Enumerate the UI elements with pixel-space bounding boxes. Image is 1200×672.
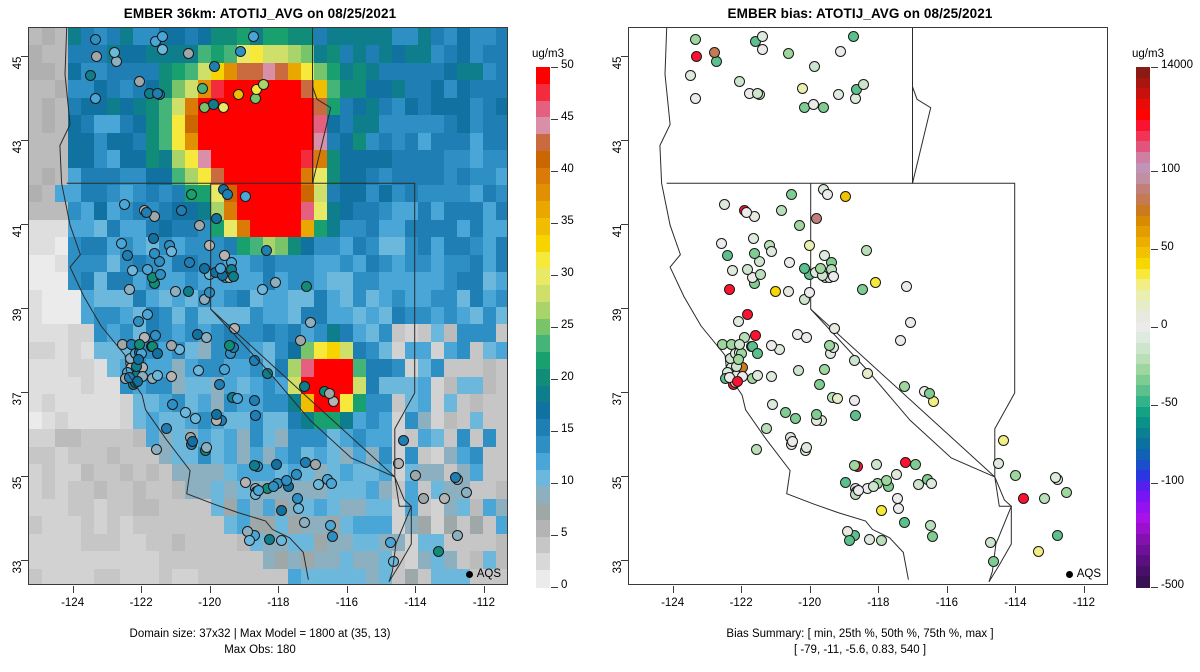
colorbar-segment	[1136, 534, 1150, 545]
colorbar-segment	[1136, 237, 1150, 248]
colorbar-segment	[1136, 354, 1150, 365]
bias-point	[786, 189, 797, 200]
colorbar-segment	[536, 201, 550, 218]
x-tick-mark	[741, 586, 742, 593]
colorbar-tick-label: 14000	[1161, 59, 1193, 71]
bias-point	[876, 535, 887, 546]
colorbar-tick	[1151, 171, 1158, 172]
y-tick-label: 41	[612, 222, 624, 240]
bias-point	[804, 240, 815, 251]
aqs-legend-left: AQS	[466, 568, 501, 580]
x-tick-label: -120	[187, 597, 233, 609]
colorbar-segment	[1136, 194, 1150, 205]
bias-point	[925, 520, 936, 531]
colorbar-segment	[1136, 460, 1150, 471]
colorbar-segment	[536, 84, 550, 101]
colorbar-segment	[536, 553, 550, 570]
x-tick-label: -112	[461, 597, 507, 609]
colorbar-segment	[536, 184, 550, 201]
bias-point	[793, 365, 804, 376]
x-tick-mark	[141, 586, 142, 593]
bias-point	[988, 556, 999, 567]
x-tick-label: -118	[855, 597, 901, 609]
bias-point	[790, 413, 801, 424]
colorbar-tick	[551, 171, 558, 172]
bias-point	[833, 89, 844, 100]
x-tick-mark	[878, 586, 879, 593]
bias-point	[840, 477, 851, 488]
x-tick-mark	[1084, 586, 1085, 593]
bias-point	[850, 410, 861, 421]
panel-bias-caption-1: Bias Summary: [ min, 25th %, 50th %, 75t…	[600, 627, 1120, 642]
colorbar-segment	[1136, 269, 1150, 280]
y-tick-label: 39	[12, 306, 24, 324]
colorbar-tick	[1151, 327, 1158, 328]
colorbar-segment	[536, 101, 550, 118]
colorbar-tick-label: 50	[561, 59, 574, 71]
aqs-legend-label: AQS	[1077, 568, 1101, 580]
bias-point	[1039, 493, 1050, 504]
bias-point	[801, 332, 812, 343]
y-tick-label: 33	[612, 558, 624, 576]
colorbar-tick	[551, 483, 558, 484]
colorbar-segment	[1136, 311, 1150, 322]
colorbar-segment	[536, 335, 550, 352]
bias-point	[901, 281, 912, 292]
bias-point	[752, 348, 763, 359]
bias-point	[824, 340, 835, 351]
bias-point	[690, 93, 701, 104]
colorbar-segment	[536, 402, 550, 419]
colorbar-segment	[1136, 407, 1150, 418]
bias-point	[766, 371, 777, 382]
colorbar-segment	[1136, 523, 1150, 534]
colorbar-tick-label: 30	[561, 267, 574, 279]
bias-point	[766, 246, 777, 257]
bias-point	[757, 31, 768, 42]
panel-bias: EMBER bias: ATOTIJ_AVG on 08/25/2021 AQS…	[600, 0, 1200, 672]
colorbar-segment	[1136, 502, 1150, 513]
bias-point	[840, 191, 851, 202]
bias-point	[722, 250, 733, 261]
bias-point	[871, 459, 882, 470]
colorbar-segment	[1136, 290, 1150, 301]
bias-point	[998, 435, 1009, 446]
colorbar-segment	[1136, 332, 1150, 343]
bias-point	[797, 83, 808, 94]
bias-point	[1061, 487, 1072, 498]
bias-points-layer	[629, 28, 1107, 584]
bias-point	[733, 354, 744, 365]
colorbar-tick-label: -500	[1161, 579, 1184, 591]
colorbar-segment	[536, 537, 550, 554]
bias-point	[780, 407, 791, 418]
x-tick-mark	[484, 586, 485, 593]
x-tick-label: -114	[992, 597, 1038, 609]
colorbar-segment	[1136, 300, 1150, 311]
bias-point	[808, 99, 819, 110]
colorbar-tick-label: 10	[561, 475, 574, 487]
colorbar-segment	[1136, 375, 1150, 386]
panel-model-caption-1: Domain size: 37x32 | Max Model = 1800 at…	[0, 627, 520, 642]
colorbar-segment	[1136, 152, 1150, 163]
bias-point	[783, 48, 794, 59]
bias-point	[829, 323, 840, 334]
colorbar-tick	[551, 119, 558, 120]
colorbar-segment	[1136, 205, 1150, 216]
x-tick-label: -112	[1061, 597, 1107, 609]
colorbar-title: ug/m3	[1132, 48, 1164, 60]
bias-point	[900, 457, 911, 468]
colorbar-tick-label: 25	[561, 319, 574, 331]
bias-point	[868, 481, 879, 492]
colorbar-tick-label: 40	[561, 163, 574, 175]
bias-point	[1018, 493, 1029, 504]
bias-point	[750, 330, 761, 341]
colorbar-segment	[536, 319, 550, 336]
bias-point	[761, 423, 772, 434]
panel-model-plot-area: AQS	[28, 27, 508, 585]
bias-point	[751, 444, 762, 455]
colorbar-segment	[536, 235, 550, 252]
bias-point	[748, 233, 759, 244]
colorbar-tick-label: 35	[561, 215, 574, 227]
bias-point	[733, 316, 744, 327]
colorbar-segment	[1136, 247, 1150, 258]
bias-point	[801, 442, 812, 453]
colorbar-segment	[536, 117, 550, 134]
colorbar-tick-label: 0	[561, 579, 567, 591]
colorbar-segment	[1136, 99, 1150, 110]
colorbar-gradient	[1136, 67, 1150, 587]
colorbar-segment	[1136, 78, 1150, 89]
panel-model-caption-2: Max Obs: 180	[0, 643, 520, 658]
y-tick-label: 45	[12, 54, 24, 72]
bias-point	[811, 213, 822, 224]
colorbar-segment	[1136, 141, 1150, 152]
colorbar-segment	[536, 520, 550, 537]
colorbar-segment	[1136, 576, 1150, 587]
bias-point	[691, 51, 702, 62]
x-tick-mark	[278, 586, 279, 593]
bias-point	[993, 458, 1004, 469]
bias-point	[905, 317, 916, 328]
colorbar-segment	[536, 352, 550, 369]
y-tick-label: 35	[12, 474, 24, 492]
colorbar-segment	[536, 67, 550, 84]
bias-point	[709, 47, 720, 58]
figure-root: EMBER 36km: ATOTIJ_AVG on 08/25/2021 AQS…	[0, 0, 1200, 672]
colorbar-segment	[1136, 481, 1150, 492]
colorbar-segment	[536, 453, 550, 470]
colorbar-segment	[1136, 385, 1150, 396]
bias-point	[1033, 546, 1044, 557]
bias-point	[924, 388, 935, 399]
y-tick-label: 33	[12, 558, 24, 576]
colorbar-segment	[1136, 491, 1150, 502]
bias-point	[858, 79, 869, 90]
colorbar-segment	[1136, 109, 1150, 120]
y-tick-label: 45	[612, 54, 624, 72]
x-tick-mark	[347, 586, 348, 593]
colorbar-segment	[536, 570, 550, 587]
x-tick-label: -122	[118, 597, 164, 609]
bias-point	[870, 277, 881, 288]
colorbar-tick-label: -100	[1161, 475, 1184, 487]
colorbar-tick	[551, 67, 558, 68]
colorbar-segment	[1136, 258, 1150, 269]
bias-point	[819, 364, 830, 375]
bias-point	[828, 271, 839, 282]
bias-point	[853, 485, 864, 496]
model-boundary-lines	[29, 28, 507, 584]
x-tick-mark	[73, 586, 74, 593]
colorbar-tick-label: 15	[561, 423, 574, 435]
bias-point	[809, 61, 820, 72]
colorbar-segment	[1136, 417, 1150, 428]
bias-point	[690, 34, 701, 45]
colorbar-segment	[536, 168, 550, 185]
colorbar-segment	[1136, 322, 1150, 333]
panel-bias-plot-area: AQS	[628, 27, 1108, 585]
colorbar-segment	[1136, 555, 1150, 566]
colorbar-segment	[1136, 88, 1150, 99]
colorbar-tick-label: 50	[1161, 241, 1174, 253]
bias-point	[899, 517, 910, 528]
bias-point	[752, 370, 763, 381]
bias-point	[822, 189, 833, 200]
x-tick-label: -120	[787, 597, 833, 609]
bias-point	[732, 376, 743, 387]
bias-point	[766, 340, 777, 351]
colorbar-tick	[551, 535, 558, 536]
colorbar-tick	[551, 431, 558, 432]
bias-point	[849, 395, 860, 406]
colorbar-tick-label: 100	[1161, 163, 1180, 175]
colorbar-segment	[1136, 428, 1150, 439]
colorbar-segment	[1136, 513, 1150, 524]
colorbar-tick	[1151, 587, 1158, 588]
x-tick-label: -124	[650, 597, 696, 609]
bias-point	[734, 339, 745, 350]
colorbar-segment	[536, 151, 550, 168]
bias-point	[926, 478, 937, 489]
colorbar-segment	[536, 503, 550, 520]
bias-point	[927, 531, 938, 542]
colorbar-tick-label: 45	[561, 111, 574, 123]
x-tick-mark	[415, 586, 416, 593]
bias-point	[849, 355, 860, 366]
bias-point	[848, 31, 859, 42]
colorbar-segment	[1136, 396, 1150, 407]
colorbar-tick-label: -50	[1161, 397, 1178, 409]
colorbar-segment	[536, 436, 550, 453]
colorbar-segment	[1136, 343, 1150, 354]
colorbar-tick	[551, 379, 558, 380]
bias-point	[985, 537, 996, 548]
bias-point	[755, 269, 766, 280]
x-tick-mark	[947, 586, 948, 593]
colorbar-segment	[536, 285, 550, 302]
panel-model-title: EMBER 36km: ATOTIJ_AVG on 08/25/2021	[0, 6, 520, 21]
colorbar-segment	[536, 369, 550, 386]
bias-point	[794, 220, 805, 231]
bias-point	[832, 393, 843, 404]
bias-point	[804, 287, 815, 298]
bias-point	[881, 475, 892, 486]
panel-model: EMBER 36km: ATOTIJ_AVG on 08/25/2021 AQS…	[0, 0, 600, 672]
colorbar-segment	[1136, 67, 1150, 78]
colorbar-segment	[1136, 566, 1150, 577]
colorbar-segment	[1136, 163, 1150, 174]
colorbar-tick-label: 5	[561, 527, 567, 539]
aqs-legend-right: AQS	[1066, 568, 1101, 580]
x-tick-label: -114	[392, 597, 438, 609]
panel-bias-title: EMBER bias: ATOTIJ_AVG on 08/25/2021	[600, 6, 1120, 21]
bias-point	[727, 265, 738, 276]
colorbar-segment	[536, 386, 550, 403]
bias-point	[891, 469, 902, 480]
y-tick-label: 43	[612, 138, 624, 156]
bias-point	[818, 102, 829, 113]
aqs-dot-icon	[1066, 571, 1073, 578]
y-tick-label: 39	[612, 306, 624, 324]
colorbar-segment	[536, 134, 550, 151]
bias-point	[1050, 472, 1061, 483]
bias-point	[815, 263, 826, 274]
colorbar-tick	[1151, 405, 1158, 406]
colorbar-segment	[536, 419, 550, 436]
x-tick-label: -124	[50, 597, 96, 609]
bias-point	[719, 199, 730, 210]
x-tick-mark	[673, 586, 674, 593]
colorbar-segment	[1136, 226, 1150, 237]
colorbar-tick-label: 0	[1161, 319, 1167, 331]
x-tick-label: -122	[718, 597, 764, 609]
colorbar-tick-label: 20	[561, 371, 574, 383]
colorbar-segment	[1136, 545, 1150, 556]
colorbar-segment	[536, 302, 550, 319]
colorbar-tick	[551, 327, 558, 328]
colorbar-title: ug/m3	[532, 48, 564, 60]
bias-point	[910, 459, 921, 470]
bias-point	[742, 264, 753, 275]
bias-point	[857, 284, 868, 295]
bias-point	[864, 534, 875, 545]
bias-point	[1010, 470, 1021, 481]
bias-point	[711, 56, 722, 67]
y-tick-label: 41	[12, 222, 24, 240]
x-tick-label: -116	[924, 597, 970, 609]
bias-point	[861, 245, 872, 256]
colorbar-segment	[1136, 120, 1150, 131]
colorbar-segment	[536, 252, 550, 269]
x-tick-mark	[810, 586, 811, 593]
colorbar-segment	[536, 268, 550, 285]
y-tick-label: 37	[12, 390, 24, 408]
colorbar-segment	[1136, 173, 1150, 184]
y-tick-label: 37	[612, 390, 624, 408]
bias-point	[742, 309, 753, 320]
bias-point	[799, 263, 810, 274]
bias-point	[892, 493, 903, 504]
bias-point	[716, 238, 727, 249]
y-tick-label: 43	[12, 138, 24, 156]
colorbar-tick	[1151, 67, 1158, 68]
bias-point	[895, 335, 906, 346]
bias-point	[835, 46, 846, 57]
colorbar-segment	[1136, 216, 1150, 227]
colorbar-segment	[1136, 131, 1150, 142]
colorbar-segment	[1136, 184, 1150, 195]
colorbar-segment	[1136, 438, 1150, 449]
bias-point	[783, 286, 794, 297]
bias-point	[752, 88, 763, 99]
bias-point	[814, 379, 825, 390]
colorbar-tick	[551, 275, 558, 276]
colorbar-segment	[1136, 364, 1150, 375]
colorbar-tick	[1151, 483, 1158, 484]
panel-bias-caption-2: [ -79, -11, -5.6, 0.83, 540 ]	[600, 643, 1120, 658]
aqs-dot-icon	[466, 571, 473, 578]
colorbar-segment	[1136, 449, 1150, 460]
y-tick-label: 35	[612, 474, 624, 492]
x-tick-label: -118	[255, 597, 301, 609]
colorbar-gradient	[536, 67, 550, 587]
colorbar-segment	[1136, 470, 1150, 481]
colorbar-tick	[1151, 249, 1158, 250]
bias-point	[784, 257, 795, 268]
bias-point	[862, 368, 873, 379]
bias-point	[767, 399, 778, 410]
x-tick-mark	[1015, 586, 1016, 593]
x-tick-label: -116	[324, 597, 370, 609]
colorbar-segment	[536, 218, 550, 235]
bias-point	[844, 535, 855, 546]
bias-point	[893, 503, 904, 514]
bias-point	[724, 284, 735, 295]
colorbar-segment	[536, 470, 550, 487]
aqs-legend-label: AQS	[477, 568, 501, 580]
bias-point	[1052, 530, 1063, 541]
bias-point	[899, 381, 910, 392]
bias-point	[734, 76, 745, 87]
colorbar-segment	[1136, 279, 1150, 290]
bias-point	[876, 505, 887, 516]
colorbar-segment	[536, 486, 550, 503]
colorbar-tick	[551, 587, 558, 588]
colorbar-tick	[551, 223, 558, 224]
bias-point	[776, 205, 787, 216]
x-tick-mark	[210, 586, 211, 593]
bias-point	[685, 70, 696, 81]
bias-point	[770, 286, 781, 297]
